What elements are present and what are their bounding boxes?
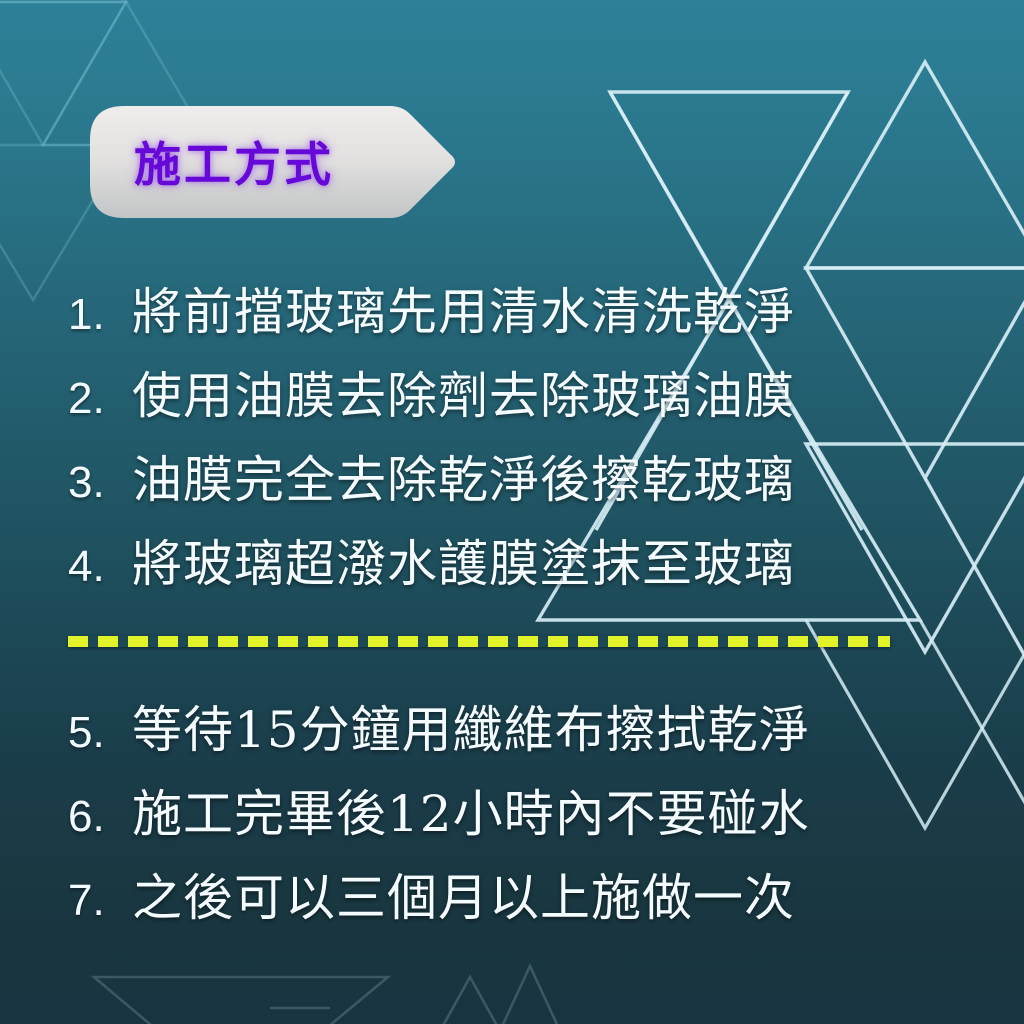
list-item: 3. 油膜完全去除乾淨後擦乾玻璃 <box>68 440 968 524</box>
list-item-text: 之後可以三個月以上施做一次 <box>132 858 795 930</box>
list-item-text: 使用油膜去除劑去除玻璃油膜 <box>132 356 795 428</box>
dashed-divider-line <box>68 636 890 647</box>
list-item-number: 1. <box>68 290 132 340</box>
list-item-text: 施工完畢後12小時內不要碰水 <box>132 774 810 846</box>
list-item-text: 等待15分鐘用纖維布擦拭乾淨 <box>132 690 810 762</box>
list-item-number: 3. <box>68 458 132 508</box>
list-item-text: 油膜完全去除乾淨後擦乾玻璃 <box>132 440 795 512</box>
list-item: 2. 使用油膜去除劑去除玻璃油膜 <box>68 356 968 440</box>
list-item-text: 將前擋玻璃先用清水清洗乾淨 <box>132 272 795 344</box>
section-title-text: 施工方式 <box>134 126 334 195</box>
list-item: 4. 將玻璃超潑水護膜塗抹至玻璃 <box>68 524 968 608</box>
list-item: 1. 將前擋玻璃先用清水清洗乾淨 <box>68 272 968 356</box>
list-item-number: 4. <box>68 542 132 592</box>
list-item: 5. 等待15分鐘用纖維布擦拭乾淨 <box>68 690 968 774</box>
steps-list-upper: 1. 將前擋玻璃先用清水清洗乾淨 2. 使用油膜去除劑去除玻璃油膜 3. 油膜完… <box>68 272 968 608</box>
poster-canvas: 施工方式 1. 將前擋玻璃先用清水清洗乾淨 2. 使用油膜去除劑去除玻璃油膜 3… <box>0 0 1024 1024</box>
list-item-number: 2. <box>68 374 132 424</box>
list-item-text: 將玻璃超潑水護膜塗抹至玻璃 <box>132 524 795 596</box>
list-item-number: 6. <box>68 792 132 842</box>
section-title-badge: 施工方式 <box>90 106 460 218</box>
dashed-divider <box>68 636 890 650</box>
list-item: 6. 施工完畢後12小時內不要碰水 <box>68 774 968 858</box>
list-item-number: 5. <box>68 708 132 758</box>
list-item: 7. 之後可以三個月以上施做一次 <box>68 858 968 942</box>
steps-list-lower: 5. 等待15分鐘用纖維布擦拭乾淨 6. 施工完畢後12小時內不要碰水 7. 之… <box>68 690 968 942</box>
list-item-number: 7. <box>68 876 132 926</box>
